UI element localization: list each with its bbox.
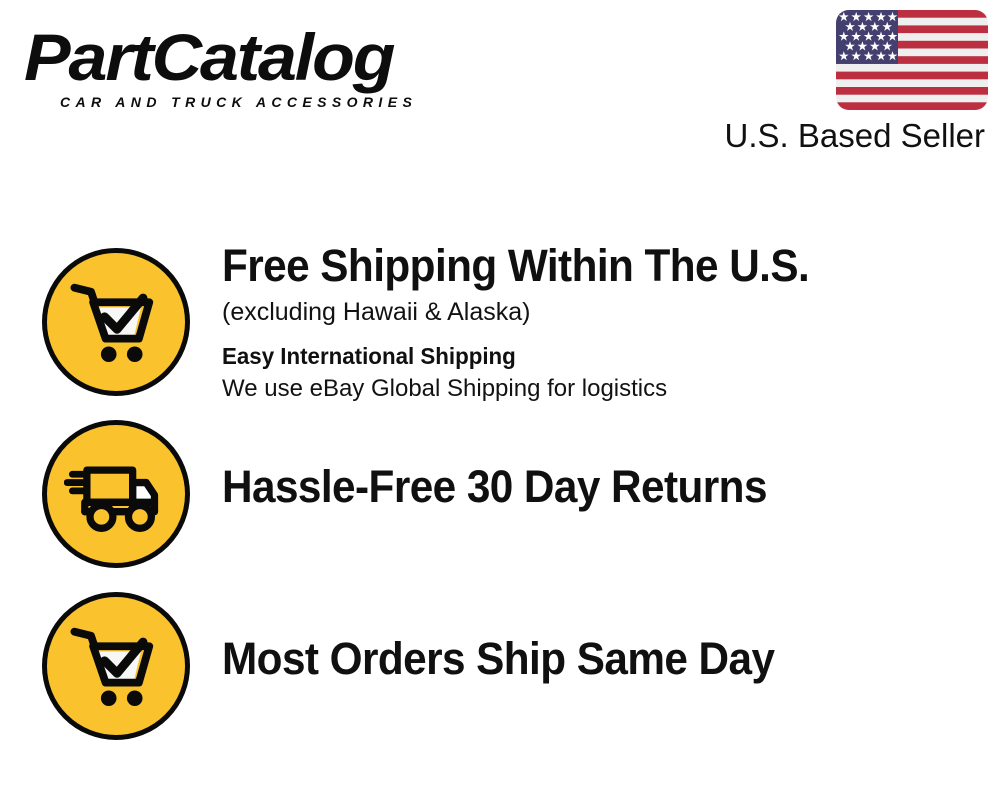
feature-title: Free Shipping Within The U.S.	[222, 239, 936, 293]
brand-logo[interactable]: PartCatalog CAR AND TRUCK ACCESSORIES	[24, 22, 494, 117]
page-header: PartCatalog CAR AND TRUCK ACCESSORIES	[0, 0, 1000, 175]
brand-tagline: CAR AND TRUCK ACCESSORIES	[60, 94, 494, 110]
seller-label: U.S. Based Seller	[725, 117, 985, 155]
delivery-truck-icon	[42, 420, 190, 568]
feature-text-block: Most Orders Ship Same Day	[222, 632, 982, 686]
feature-text-block: Hassle-Free 30 Day Returns	[222, 460, 982, 514]
feature-row: Hassle-Free 30 Day Returns	[0, 415, 1000, 575]
feature-subheading: Easy International Shipping	[222, 340, 959, 372]
feature-note: (excluding Hawaii & Alaska)	[222, 295, 982, 329]
feature-row: Free Shipping Within The U.S. (excluding…	[0, 243, 1000, 403]
feature-row: Most Orders Ship Same Day	[0, 587, 1000, 747]
us-flag-icon	[836, 10, 988, 110]
feature-title: Hassle-Free 30 Day Returns	[222, 460, 936, 514]
feature-subtext: We use eBay Global Shipping for logistic…	[222, 373, 982, 405]
brand-wordmark: PartCatalog	[24, 22, 522, 92]
shopping-cart-check-icon	[42, 248, 190, 396]
shopping-cart-check-icon	[42, 592, 190, 740]
feature-title: Most Orders Ship Same Day	[222, 632, 936, 686]
feature-text-block: Free Shipping Within The U.S. (excluding…	[222, 239, 982, 405]
